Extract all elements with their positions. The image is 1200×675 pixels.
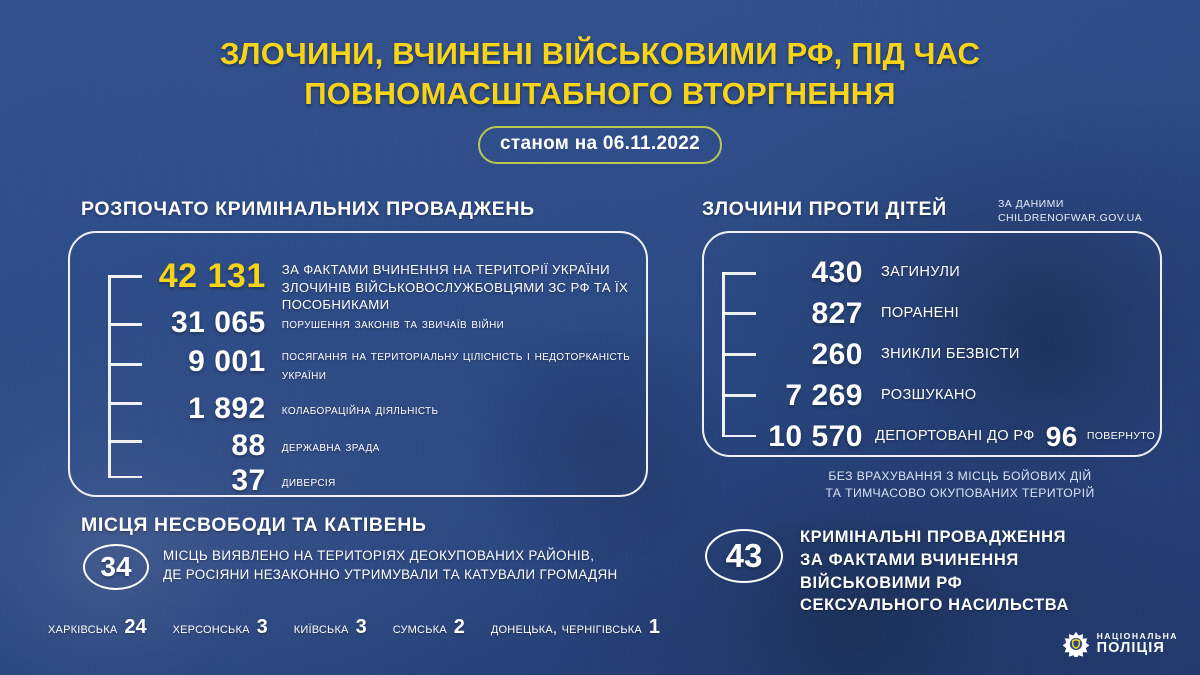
left-item-value: 88 — [146, 431, 266, 461]
left-list-item: 9 001 ПОСЯГАННЯ НА ТЕРИТОРІАЛЬНУ ЦІЛІСНІ… — [146, 347, 641, 386]
right-item-extra-value: 96 — [1046, 423, 1078, 451]
logo-text: НАЦІОНАЛЬНА ПОЛІЦІЯ — [1097, 632, 1178, 656]
left-item-label: ЗА ФАКТАМИ ВЧИНЕННЯ НА ТЕРИТОРІЇ УКРАЇНИ… — [282, 259, 641, 314]
right-item-extra-label: ПОВЕРНУТО — [1087, 430, 1155, 444]
logo-line-2: ПОЛІЦІЯ — [1097, 641, 1178, 656]
left-item-label: КОЛАБОРАЦІЙНА ДІЯЛЬНІСТЬ — [282, 394, 641, 420]
police-badge-icon — [1063, 631, 1089, 657]
bracket-spine — [108, 275, 111, 478]
right-list-item: 10 570 ДЕПОРТОВАНІ ДО РФ 96 ПОВЕРНУТО — [742, 422, 1162, 452]
right-disclaimer: БЕЗ ВРАХУВАННЯ З МІСЦЬ БОЙОВИХ ДІЙ ТА ТИ… — [760, 468, 1160, 502]
left-item-value: 31 065 — [146, 308, 266, 338]
bracket-tick — [722, 353, 756, 356]
bracket-tick — [108, 440, 142, 443]
right-item-label: ЗНИКЛИ БЕЗВІСТИ — [881, 345, 1020, 364]
right-list-item: 827 ПОРАНЕНІ — [758, 299, 1158, 329]
right-bracket — [722, 272, 756, 437]
right-list-item: 260 ЗНИКЛИ БЕЗВІСТИ — [758, 340, 1158, 370]
left-item-value: 37 — [146, 466, 266, 496]
region-value: 1 — [649, 616, 660, 639]
right-item-value: 10 570 — [742, 422, 863, 452]
bracket-tick — [108, 275, 142, 278]
left-item-value: 42 131 — [146, 259, 266, 293]
sexual-violence-line-1: КРИМІНАЛЬНІ ПРОВАДЖЕННЯ — [800, 526, 1130, 549]
region-item: Київська 3 — [294, 616, 367, 639]
region-value: 3 — [257, 616, 268, 639]
bracket-tick — [722, 272, 756, 275]
right-item-label: ЗАГИНУЛИ — [881, 263, 960, 282]
region-item: Херсонська 3 — [173, 616, 268, 639]
right-item-value: 430 — [758, 258, 863, 288]
bracket-tick — [108, 402, 142, 405]
right-item-label: РОЗШУКАНО — [881, 386, 977, 405]
bracket-tick — [108, 323, 142, 326]
right-item-value: 7 269 — [758, 381, 863, 411]
right-list-item: 430 ЗАГИНУЛИ — [758, 258, 1158, 288]
region-name: Київська — [294, 620, 349, 637]
regions-list: Харківська 24 Херсонська 3 Київська 3 Су… — [48, 616, 686, 639]
source-note-line-2: CHILDRENOFWAR.GOV.UA — [998, 211, 1142, 225]
left-item-value: 9 001 — [146, 347, 266, 377]
region-name: Сумська — [393, 620, 447, 637]
detention-heading: МІСЦЯ НЕСВОБОДИ ТА КАТІВЕНЬ — [81, 514, 427, 537]
source-note: ЗА ДАНИМИ CHILDRENOFWAR.GOV.UA — [998, 197, 1142, 225]
region-value: 3 — [356, 616, 367, 639]
title-block: ЗЛОЧИНИ, ВЧИНЕНІ ВІЙСЬКОВИМИ РФ, ПІД ЧАС… — [0, 34, 1200, 164]
bracket-tick — [108, 476, 142, 479]
page-title-line-1: ЗЛОЧИНИ, ВЧИНЕНІ ВІЙСЬКОВИМИ РФ, ПІД ЧАС — [0, 34, 1200, 74]
detention-badge: 34 — [83, 544, 149, 590]
right-item-label: ПОРАНЕНІ — [881, 304, 959, 323]
date-badge: станом на 06.11.2022 — [478, 126, 722, 164]
bracket-tick — [722, 394, 756, 397]
left-item-label: ДЕРЖАВНА ЗРАДА — [282, 431, 641, 457]
region-value: 24 — [124, 616, 146, 639]
region-item: Донецька, Чернігівська 1 — [491, 616, 660, 639]
left-bracket — [108, 275, 142, 478]
region-value: 2 — [454, 616, 465, 639]
left-list-item: 37 ДИВЕРСІЯ — [146, 466, 641, 496]
sexual-violence-line-4: СЕКСУАЛЬНОГО НАСИЛЬСТВА — [800, 594, 1130, 617]
left-item-label: ДИВЕРСІЯ — [282, 466, 641, 492]
disclaimer-line-1: БЕЗ ВРАХУВАННЯ З МІСЦЬ БОЙОВИХ ДІЙ — [760, 468, 1160, 485]
region-name: Харківська — [48, 620, 117, 637]
right-item-value: 827 — [758, 299, 863, 329]
page-title-line-2: ПОВНОМАСШТАБНОГО ВТОРГНЕННЯ — [0, 74, 1200, 114]
left-item-label: ПОРУШЕННЯ ЗАКОНІВ ТА ЗВИЧАЇВ ВІЙНИ — [282, 308, 641, 334]
region-name: Херсонська — [173, 620, 250, 637]
right-item-value: 260 — [758, 340, 863, 370]
left-item-label: ПОСЯГАННЯ НА ТЕРИТОРІАЛЬНУ ЦІЛІСНІСТЬ І … — [282, 347, 641, 386]
sexual-violence-line-2: ЗА ФАКТАМИ ВЧИНЕННЯ — [800, 549, 1130, 572]
sexual-violence-badge: 43 — [705, 529, 783, 583]
detention-description: МІСЦЬ ВИЯВЛЕНО НА ТЕРИТОРІЯХ ДЕОКУПОВАНИ… — [163, 546, 683, 585]
region-name: Донецька, Чернігівська — [491, 620, 642, 637]
left-list-item: 88 ДЕРЖАВНА ЗРАДА — [146, 431, 641, 461]
left-list-item: 31 065 ПОРУШЕННЯ ЗАКОНІВ ТА ЗВИЧАЇВ ВІЙН… — [146, 308, 641, 338]
detention-desc-line-1: МІСЦЬ ВИЯВЛЕНО НА ТЕРИТОРІЯХ ДЕОКУПОВАНИ… — [163, 546, 683, 565]
right-item-label: ДЕПОРТОВАНІ ДО РФ — [875, 427, 1035, 446]
right-list-item: 7 269 РОЗШУКАНО — [758, 381, 1158, 411]
right-section-heading: ЗЛОЧИНИ ПРОТИ ДІТЕЙ — [702, 198, 947, 221]
sexual-violence-line-3: ВІЙСЬКОВИМИ РФ — [800, 572, 1130, 595]
source-note-line-1: ЗА ДАНИМИ — [998, 197, 1142, 211]
left-section-heading: РОЗПОЧАТО КРИМІНАЛЬНИХ ПРОВАДЖЕНЬ — [81, 198, 535, 221]
bracket-tick — [108, 363, 142, 366]
bracket-tick — [722, 312, 756, 315]
infographic-canvas: ЗЛОЧИНИ, ВЧИНЕНІ ВІЙСЬКОВИМИ РФ, ПІД ЧАС… — [0, 0, 1200, 675]
region-item: Сумська 2 — [393, 616, 465, 639]
left-item-value: 1 892 — [146, 394, 266, 424]
left-list-item: 1 892 КОЛАБОРАЦІЙНА ДІЯЛЬНІСТЬ — [146, 394, 641, 424]
sexual-violence-description: КРИМІНАЛЬНІ ПРОВАДЖЕННЯ ЗА ФАКТАМИ ВЧИНЕ… — [800, 526, 1130, 617]
disclaimer-line-2: ТА ТИМЧАСОВО ОКУПОВАНИХ ТЕРИТОРІЙ — [760, 485, 1160, 502]
national-police-logo: НАЦІОНАЛЬНА ПОЛІЦІЯ — [1063, 631, 1178, 657]
detention-desc-line-2: ДЕ РОСІЯНИ НЕЗАКОННО УТРИМУВАЛИ ТА КАТУВ… — [163, 565, 683, 584]
region-item: Харківська 24 — [48, 616, 147, 639]
